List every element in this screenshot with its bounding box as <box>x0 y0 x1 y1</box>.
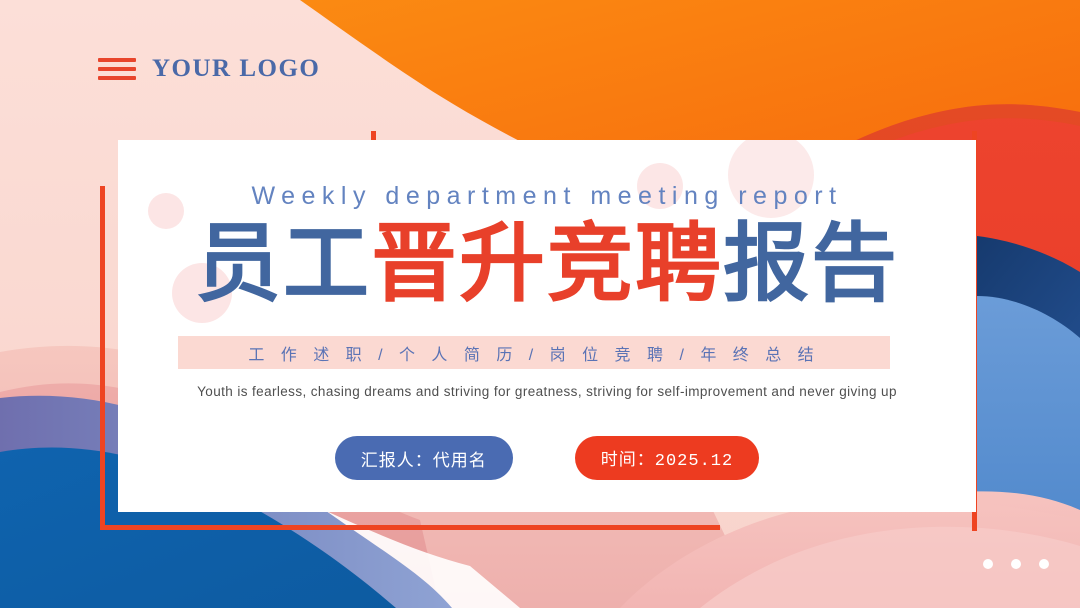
indicator-dot[interactable] <box>983 559 993 569</box>
indicator-dot[interactable] <box>1039 559 1049 569</box>
title-segment-1: 员工 <box>195 216 371 312</box>
content-card: Weekly department meeting report 员工晋升竞聘报… <box>118 140 976 512</box>
subtitle-banner: 工 作 述 职 / 个 人 简 历 / 岗 位 竞 聘 / 年 终 总 结 <box>178 336 890 369</box>
logo-text: YOUR LOGO <box>152 55 320 83</box>
meta-pill-row: 汇报人：代用名 时间：2025.12 <box>118 436 976 480</box>
slide-canvas: Weekly department meeting report 员工晋升竞聘报… <box>0 0 1080 608</box>
indicator-dot[interactable] <box>1011 559 1021 569</box>
slide-indicator-dots <box>983 559 1049 569</box>
tagline-text: Youth is fearless, chasing dreams and st… <box>118 384 976 399</box>
date-pill[interactable]: 时间：2025.12 <box>575 436 759 480</box>
hamburger-bar <box>98 67 136 71</box>
presenter-pill[interactable]: 汇报人：代用名 <box>335 436 513 480</box>
hamburger-icon <box>98 58 136 80</box>
hamburger-bar <box>98 58 136 62</box>
logo[interactable]: YOUR LOGO <box>98 55 320 83</box>
hamburger-bar <box>98 76 136 80</box>
subtitle-text: 工 作 述 职 / 个 人 简 历 / 岗 位 竞 聘 / 年 终 总 结 <box>248 341 819 365</box>
page-title: 员工晋升竞聘报告 <box>118 218 976 311</box>
title-segment-3: 报告 <box>723 216 899 312</box>
cover-content: Weekly department meeting report 员工晋升竞聘报… <box>118 140 976 512</box>
title-segment-2: 晋升竞聘 <box>371 216 723 312</box>
eyebrow-text: Weekly department meeting report <box>118 182 976 211</box>
